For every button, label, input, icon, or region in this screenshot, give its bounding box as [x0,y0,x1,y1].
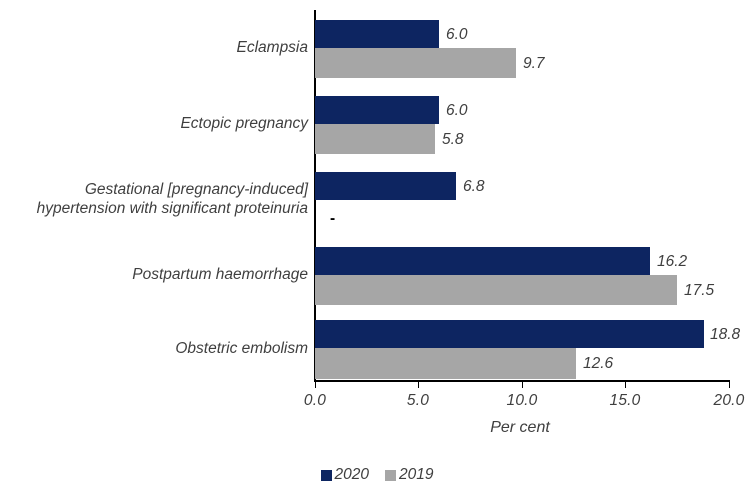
bar-2020-postpartum-haemorrhage [315,247,650,275]
bar-label-2019-obstetric-embolism: 12.6 [583,356,613,372]
x-axis-tick-3 [625,381,626,388]
bar-2019-postpartum-haemorrhage [315,275,677,305]
bar-label-2020-eclampsia: 6.0 [446,27,468,43]
legend-swatch-icon-2020 [321,470,332,481]
bar-label-2019-gestational-hypertension: - [330,211,335,227]
category-label-obstetric-embolism: Obstetric embolism [8,339,308,358]
bar-2020-obstetric-embolism [315,320,704,348]
category-label-eclampsia: Eclampsia [8,38,308,57]
legend-label-2020: 2020 [335,466,369,484]
x-axis-tick-4 [729,381,730,388]
bar-2020-eclampsia [315,20,439,48]
chart-legend: 2020 2019 [0,466,754,484]
x-axis-tick-label-4: 20.0 [694,392,754,410]
bar-2020-ectopic-pregnancy [315,96,439,124]
x-axis-tick-label-1: 5.0 [383,392,453,410]
bar-2019-eclampsia [315,48,516,78]
bar-label-2019-postpartum-haemorrhage: 17.5 [684,283,714,299]
bar-2019-obstetric-embolism [315,348,576,379]
bar-2020-gestational-hypertension [315,172,456,200]
bar-label-2020-obstetric-embolism: 18.8 [710,327,740,343]
bar-2019-ectopic-pregnancy [315,124,435,154]
category-label-gestational-hypertension: Gestational [pregnancy-induced] hyperten… [8,180,308,218]
legend-item-2019[interactable]: 2019 [385,466,433,484]
legend-item-2020[interactable]: 2020 [321,466,369,484]
x-axis-tick-1 [418,381,419,388]
bar-label-2019-eclampsia: 9.7 [523,56,545,72]
x-axis-title: Per cent [460,419,580,437]
x-axis-tick-label-3: 15.0 [590,392,660,410]
bar-chart: 0.0 5.0 10.0 15.0 20.0 Per cent Eclampsi… [0,0,754,494]
x-axis-tick-0 [315,381,316,388]
x-axis-tick-label-2: 10.0 [487,392,557,410]
category-label-ectopic-pregnancy: Ectopic pregnancy [8,114,308,133]
bar-label-2019-ectopic-pregnancy: 5.8 [442,132,464,148]
legend-label-2019: 2019 [399,466,433,484]
x-axis-tick-2 [522,381,523,388]
legend-swatch-icon-2019 [385,470,396,481]
category-label-postpartum-haemorrhage: Postpartum haemorrhage [8,265,308,284]
bar-label-2020-gestational-hypertension: 6.8 [463,179,485,195]
bar-label-2020-postpartum-haemorrhage: 16.2 [657,254,687,270]
bar-label-2020-ectopic-pregnancy: 6.0 [446,103,468,119]
x-axis-tick-label-0: 0.0 [280,392,350,410]
